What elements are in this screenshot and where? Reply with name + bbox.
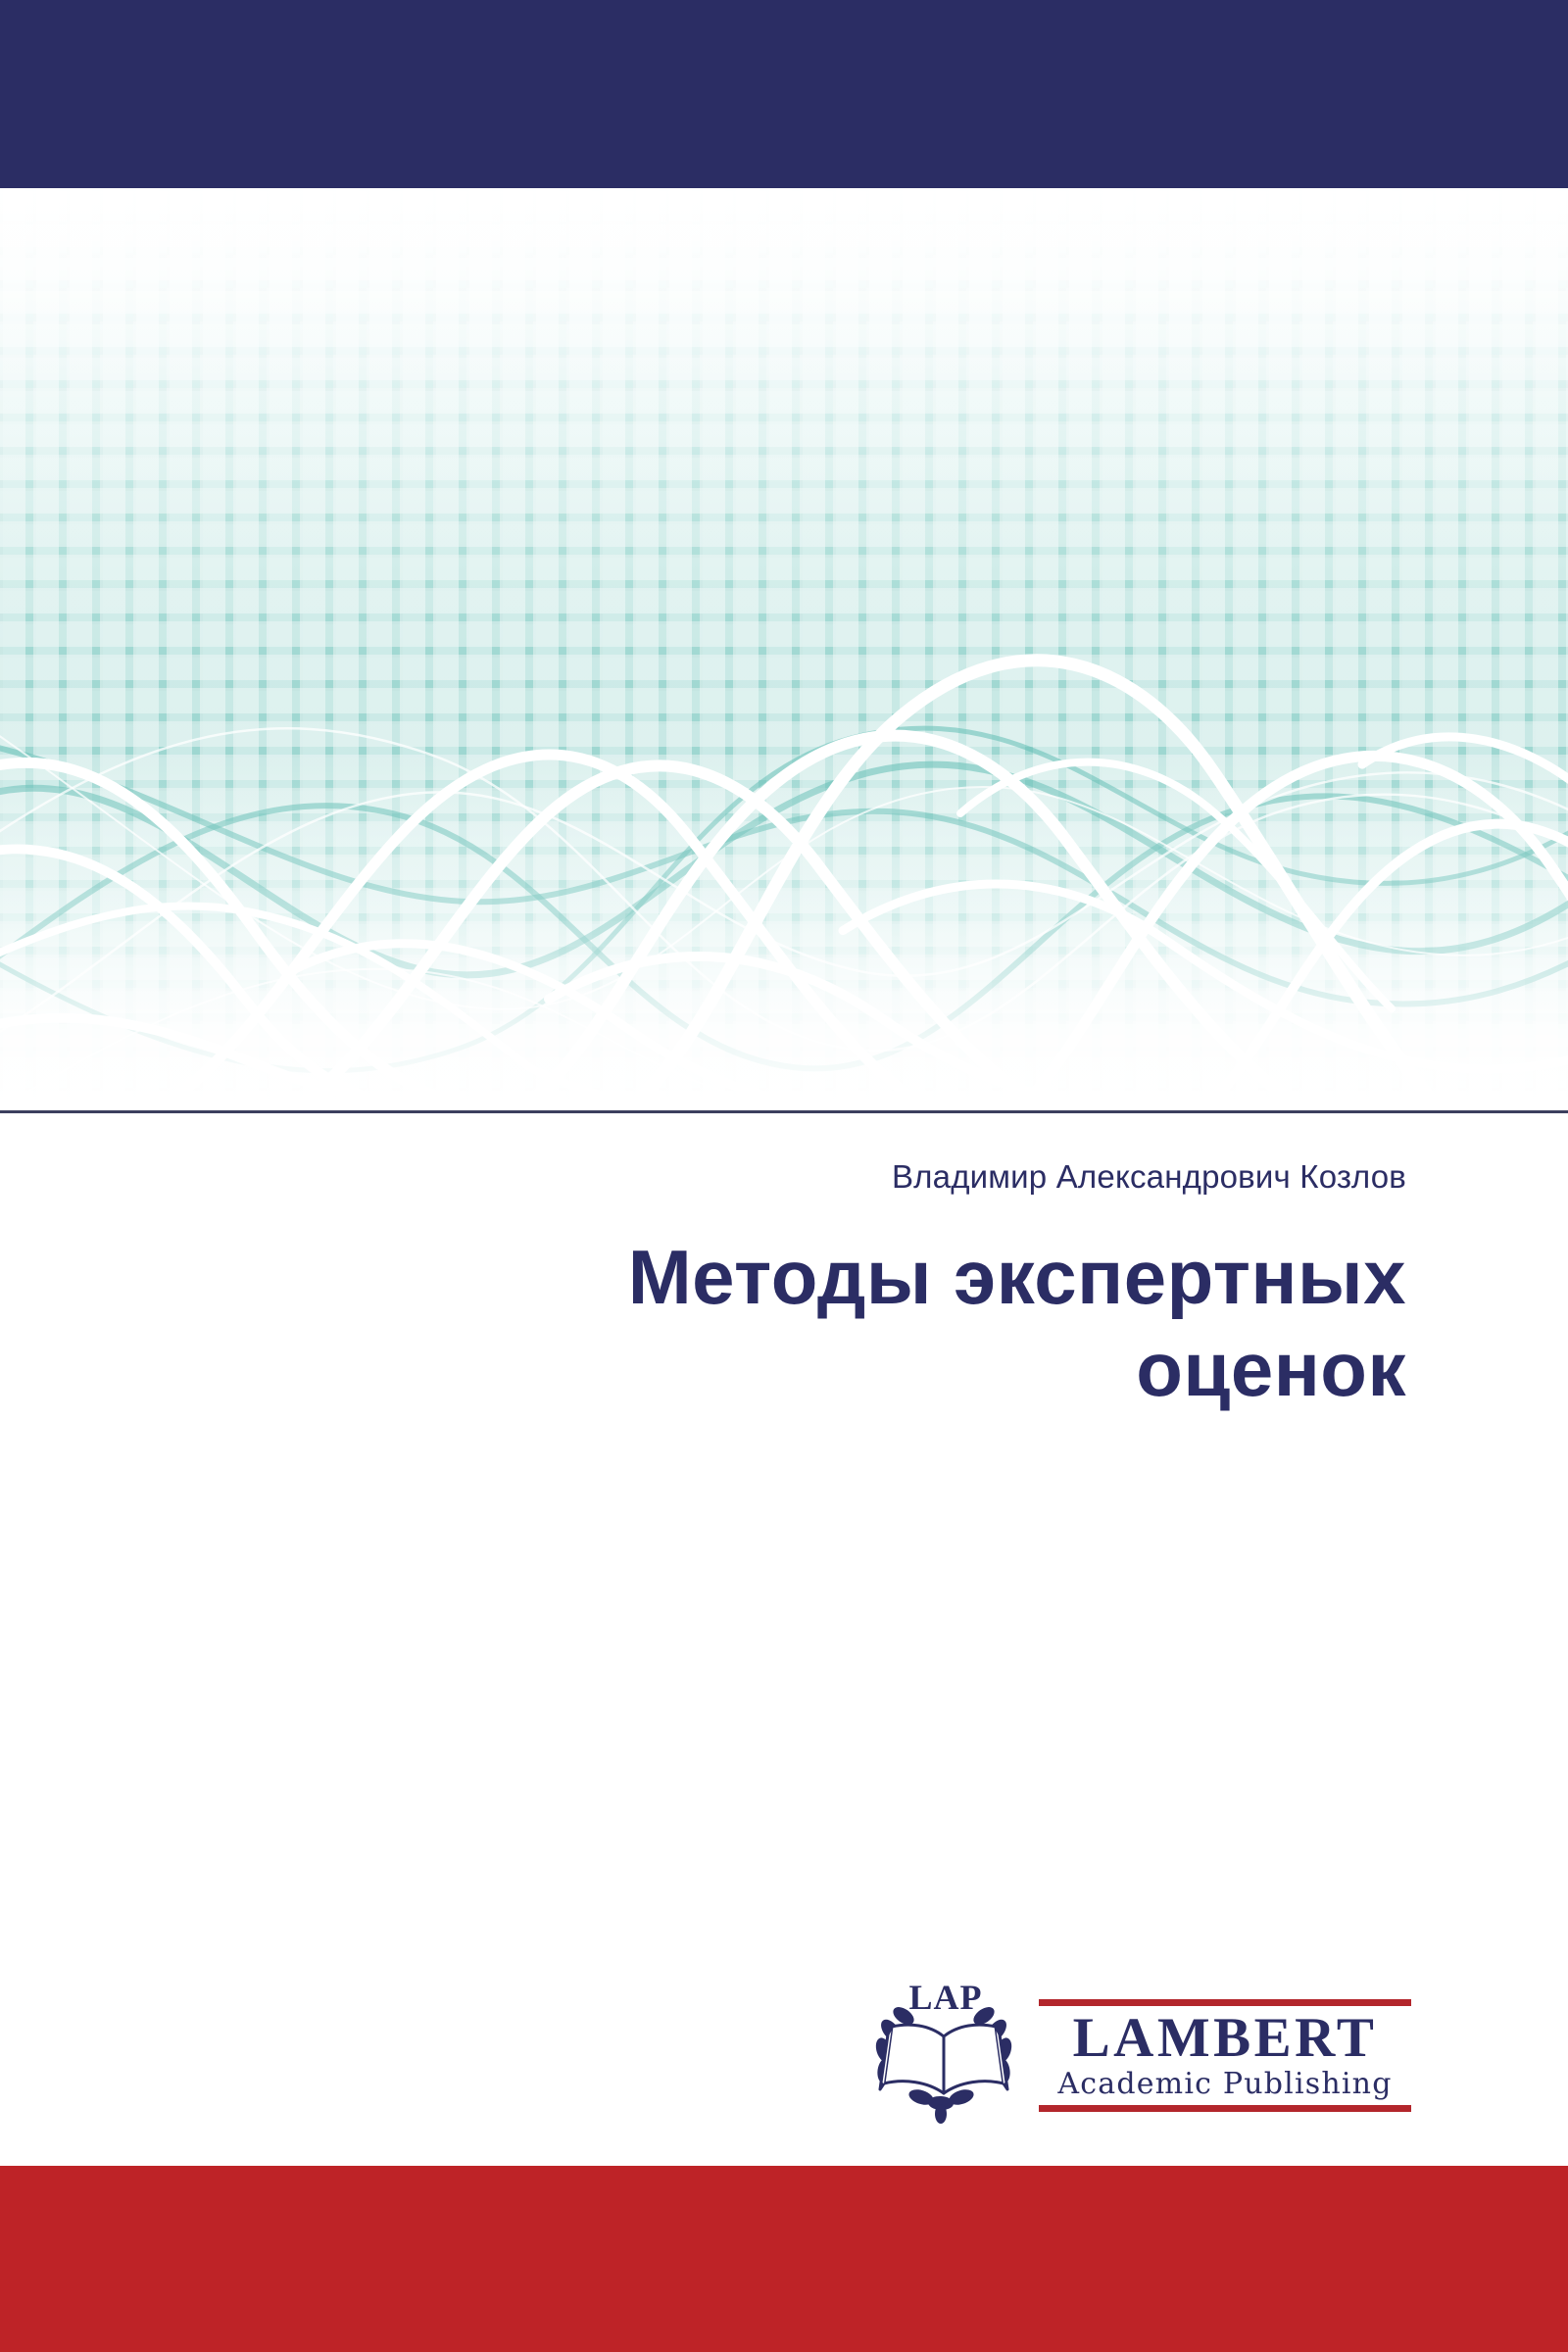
lap-wreath-book-icon: LAP xyxy=(862,1980,1029,2127)
svg-text:LAP: LAP xyxy=(909,1980,983,2017)
bottom-red-band xyxy=(0,2166,1568,2352)
top-navy-band xyxy=(0,0,1568,188)
wave-curves-graphic: .w { fill:none; stroke:#ffffff; stroke-l… xyxy=(0,188,1568,1110)
logo-rule-top xyxy=(1039,1999,1411,2006)
publisher-wordmark: LAMBERT Academic Publishing xyxy=(1039,1995,1411,2112)
book-cover: .w { fill:none; stroke:#ffffff; stroke-l… xyxy=(0,0,1568,2352)
book-title-line-1: Методы экспертных xyxy=(118,1231,1406,1323)
cover-artwork-panel: .w { fill:none; stroke:#ffffff; stroke-l… xyxy=(0,188,1568,1113)
book-title: Методы экспертных оценок xyxy=(118,1231,1406,1415)
book-title-line-2: оценок xyxy=(118,1323,1406,1415)
publisher-tagline: Academic Publishing xyxy=(1039,2068,1411,2101)
publisher-name: LAMBERT xyxy=(1039,2009,1411,2068)
publisher-logo: LAP LAMBERT Academic Publishing xyxy=(862,1980,1411,2127)
author-name: Владимир Александрович Козлов xyxy=(118,1158,1406,1196)
logo-rule-bottom xyxy=(1039,2105,1411,2112)
